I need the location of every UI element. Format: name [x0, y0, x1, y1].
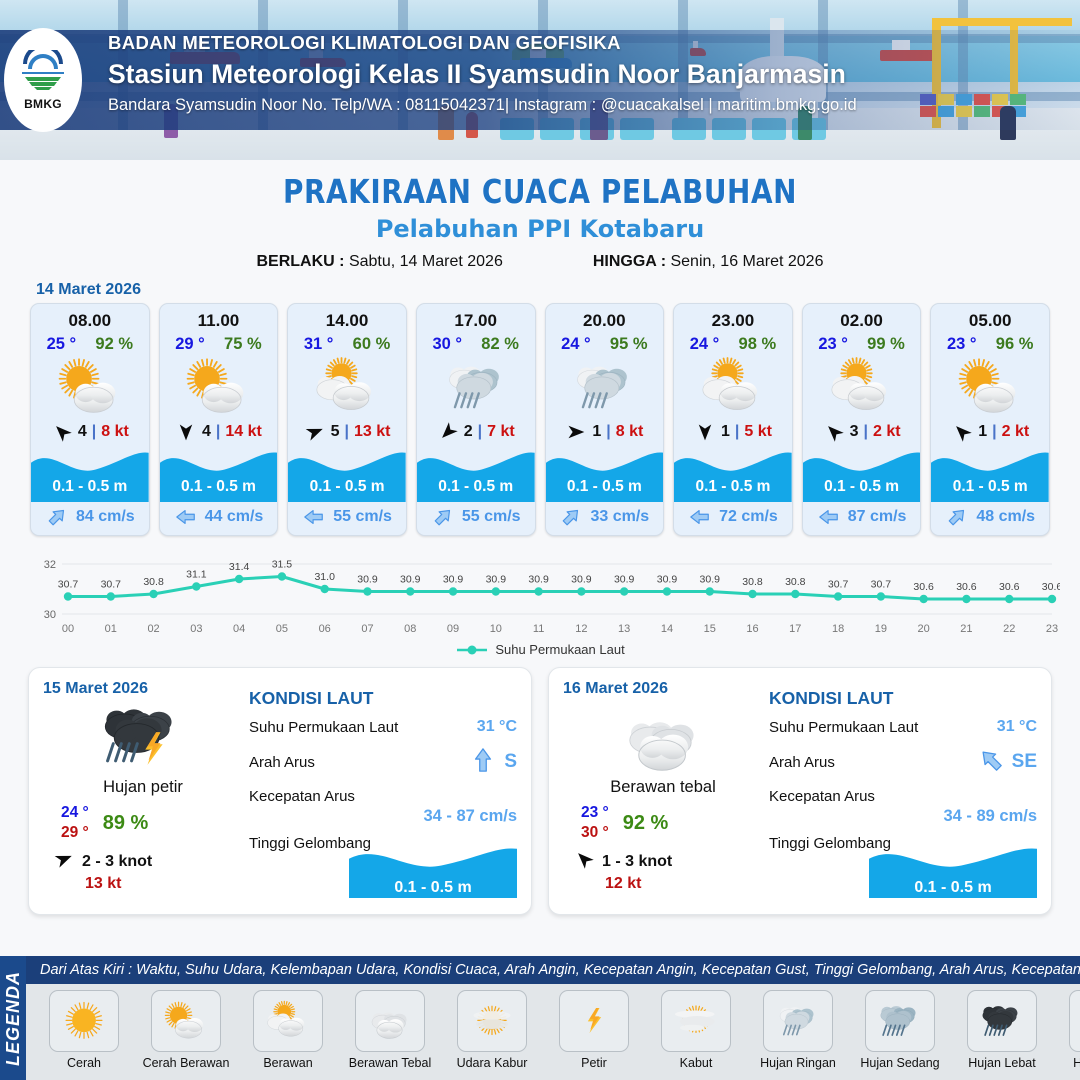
svg-text:05: 05: [276, 623, 288, 635]
sst-chart-canvas: 303230.730.730.831.131.431.531.030.930.9…: [20, 550, 1060, 640]
card-wave: 0.1 - 0.5 m: [160, 446, 278, 502]
wind-separator: |: [863, 423, 867, 441]
wind-separator: |: [992, 423, 996, 441]
svg-text:19: 19: [875, 623, 887, 635]
wind-gust: 5 kt: [744, 423, 772, 441]
current-speed: 84 cm/s: [76, 508, 135, 526]
forecast-card[interactable]: 14.00 31 ° 60 % 5 | 13 kt: [287, 303, 407, 536]
day-panel-sea-conditions: KONDISI LAUT Suhu Permukaan Laut 31 °C A…: [243, 680, 517, 902]
svg-text:31.0: 31.0: [314, 571, 335, 583]
day-wind: 1 - 3 knot: [563, 849, 763, 874]
day-humidity: 89 %: [103, 812, 149, 835]
legend-item-label: Berawan Tebal: [342, 1056, 438, 1070]
card-humidity: 96 %: [996, 335, 1034, 354]
legend-item: Cerah: [36, 990, 132, 1070]
svg-text:30.7: 30.7: [828, 579, 849, 591]
svg-text:15: 15: [704, 623, 716, 635]
sea-conditions-title: KONDISI LAUT: [249, 688, 517, 709]
svg-text:30.7: 30.7: [101, 579, 122, 591]
card-current: 84 cm/s: [31, 502, 149, 535]
svg-text:07: 07: [361, 623, 373, 635]
current-speed: 55 cm/s: [462, 508, 521, 526]
svg-text:30.9: 30.9: [700, 574, 721, 586]
wave-height: 0.1 - 0.5 m: [546, 478, 664, 496]
svg-text:30.6: 30.6: [1042, 581, 1060, 593]
sst-chart: 303230.730.730.831.131.431.531.030.930.9…: [20, 550, 1060, 640]
forecast-card-row: 08.00 25 ° 92 % 4 | 8 kt: [0, 303, 1080, 536]
wave-height: 0.1 - 0.5 m: [31, 478, 149, 496]
svg-text:30.7: 30.7: [58, 579, 79, 591]
legend-hujan-petir-icon: [1069, 990, 1080, 1052]
legend-hujan-sedang-icon: [865, 990, 935, 1052]
legend-kabut-icon: [661, 990, 731, 1052]
wind-separator: |: [735, 423, 739, 441]
legend-item-label: Hujan Lebat: [954, 1056, 1050, 1070]
legend-item-label: Kabut: [648, 1056, 744, 1070]
svg-text:23: 23: [1046, 623, 1058, 635]
wind-speed-knot: 3: [850, 423, 859, 441]
day-condition: Hujan petir: [43, 778, 243, 797]
card-current: 87 cm/s: [803, 502, 921, 535]
card-current: 72 cm/s: [674, 502, 792, 535]
card-wind: 2 | 7 kt: [417, 420, 535, 446]
wave-height: 0.1 - 0.5 m: [674, 478, 792, 496]
current-direction-arrow-icon: [431, 506, 455, 528]
wind-speed-knot: 1: [721, 423, 730, 441]
svg-text:03: 03: [190, 623, 202, 635]
day-wind-range: 2 - 3 knot: [82, 853, 152, 871]
svg-text:30.8: 30.8: [785, 576, 806, 588]
wave-height-value: 0.1 - 0.5 m: [349, 879, 517, 897]
daily-forecast-panels: 15 Maret 2026 Hujan petir 24 °: [0, 657, 1080, 915]
svg-text:14: 14: [661, 623, 673, 635]
svg-text:06: 06: [319, 623, 331, 635]
legend-berawan-tebal-icon: [355, 990, 425, 1052]
card-humidity: 99 %: [867, 335, 905, 354]
card-wind: 1 | 2 kt: [931, 420, 1049, 446]
weather-hujan-ringan-icon: [417, 354, 535, 420]
card-temperature: 23 °: [818, 335, 848, 354]
card-wave: 0.1 - 0.5 m: [931, 446, 1049, 502]
legend-cerah-icon: [49, 990, 119, 1052]
day-wind-gust: 13 kt: [85, 875, 243, 893]
wind-direction-arrow-icon: [565, 422, 587, 442]
svg-text:30.7: 30.7: [871, 579, 892, 591]
weather-cerah-berawan-icon: [31, 354, 149, 420]
svg-text:30.9: 30.9: [657, 574, 678, 586]
valid-from-value: Sabtu, 14 Maret 2026: [349, 253, 503, 270]
current-speed: 87 cm/s: [848, 508, 907, 526]
svg-text:30.9: 30.9: [571, 574, 592, 586]
page-header: BMKG BADAN METEOROLOGI KLIMATOLOGI DAN G…: [0, 0, 1080, 160]
wind-direction-arrow-icon: [53, 849, 75, 874]
current-speed-value: 34 - 89 cm/s: [769, 807, 1037, 826]
wave-height: 0.1 - 0.5 m: [931, 478, 1049, 496]
card-wave: 0.1 - 0.5 m: [674, 446, 792, 502]
forecast-card[interactable]: 02.00 23 ° 99 % 3 | 2 kt: [802, 303, 922, 536]
bmkg-logo: BMKG: [4, 28, 82, 132]
valid-to-value: Senin, 16 Maret 2026: [670, 253, 823, 270]
legend-item-label: Cerah Berawan: [138, 1056, 234, 1070]
card-wave: 0.1 - 0.5 m: [417, 446, 535, 502]
wind-gust: 8 kt: [101, 423, 129, 441]
sea-row-sst: Suhu Permukaan Laut 31 °C: [769, 718, 1037, 736]
legend-udara-kabur-icon: [457, 990, 527, 1052]
day-wind: 2 - 3 knot: [43, 849, 243, 874]
header-text-block: BADAN METEOROLOGI KLIMATOLOGI DAN GEOFIS…: [108, 30, 1058, 118]
current-direction-arrow-icon: [688, 506, 712, 528]
wave-height-block: 0.1 - 0.5 m: [869, 842, 1037, 904]
svg-text:30.9: 30.9: [528, 574, 549, 586]
current-direction-arrow-icon: [45, 506, 69, 528]
card-time: 23.00: [674, 304, 792, 331]
forecast-card[interactable]: 08.00 25 ° 92 % 4 | 8 kt: [30, 303, 150, 536]
legend-footer: LEGENDA Dari Atas Kiri : Waktu, Suhu Uda…: [0, 956, 1080, 1080]
wind-direction-arrow-icon: [573, 849, 595, 874]
sea-row-current-speed: Kecepatan Arus 34 - 89 cm/s: [769, 788, 1037, 826]
wind-gust: 13 kt: [354, 423, 390, 441]
sea-row-current-speed: Kecepatan Arus 34 - 87 cm/s: [249, 788, 517, 826]
wind-speed-knot: 1: [592, 423, 601, 441]
card-humidity: 98 %: [739, 335, 777, 354]
card-time: 05.00: [931, 304, 1049, 331]
current-speed-value: 34 - 87 cm/s: [249, 807, 517, 826]
legend-item: Berawan: [240, 990, 336, 1070]
card-temperature: 24 °: [690, 335, 720, 354]
title-section: PRAKIRAAN CUACA PELABUHAN Pelabuhan PPI …: [0, 160, 1080, 271]
svg-text:08: 08: [404, 623, 416, 635]
station-name: Stasiun Meteorologi Kelas II Syamsudin N…: [108, 56, 1058, 92]
current-speed: 55 cm/s: [333, 508, 392, 526]
sea-conditions-title: KONDISI LAUT: [769, 688, 1037, 709]
weather-hujan-petir-icon: [43, 700, 243, 776]
current-direction-value: SE: [978, 745, 1037, 779]
crane-boom-icon: [932, 18, 1072, 26]
chart-legend-marker: [455, 644, 489, 656]
card-temp-humidity: 25 ° 92 %: [31, 331, 149, 354]
day-temperatures: 24 ° 29 ° 89 %: [43, 803, 243, 843]
page-subtitle: Pelabuhan PPI Kotabaru: [0, 215, 1080, 243]
wind-speed-knot: 4: [78, 423, 87, 441]
wave-height-block: 0.1 - 0.5 m: [349, 842, 517, 904]
card-wave: 0.1 - 0.5 m: [31, 446, 149, 502]
card-current: 33 cm/s: [546, 502, 664, 535]
svg-text:12: 12: [575, 623, 587, 635]
forecast-date-label: 14 Maret 2026: [36, 281, 1080, 299]
legend-item: Hujan Ringan: [750, 990, 846, 1070]
svg-text:30: 30: [44, 609, 56, 621]
wind-gust: 8 kt: [616, 423, 644, 441]
forecast-card[interactable]: 05.00 23 ° 96 % 1 | 2 kt: [930, 303, 1050, 536]
legend-item: Kabut: [648, 990, 744, 1070]
wind-gust: 2 kt: [1002, 423, 1030, 441]
legend-side-label: LEGENDA: [3, 970, 24, 1065]
sea-row-value: 31 °C: [477, 718, 517, 736]
validity-range: BERLAKU : Sabtu, 14 Maret 2026 HINGGA : …: [0, 253, 1080, 271]
svg-text:13: 13: [618, 623, 630, 635]
card-humidity: 92 %: [95, 335, 133, 354]
svg-text:20: 20: [918, 623, 930, 635]
wind-gust: 2 kt: [873, 423, 901, 441]
contact-line: Bandara Syamsudin Noor No. Telp/WA : 081…: [108, 92, 1058, 118]
card-wind: 5 | 13 kt: [288, 420, 406, 446]
legend-item-label: Udara Kabur: [444, 1056, 540, 1070]
svg-text:18: 18: [832, 623, 844, 635]
card-temp-humidity: 24 ° 95 %: [546, 331, 664, 354]
weather-berawan-tebal-icon: [563, 700, 763, 776]
wind-separator: |: [345, 423, 349, 441]
day-temperatures: 23 ° 30 ° 92 %: [563, 803, 763, 843]
svg-text:04: 04: [233, 623, 245, 635]
legend-item-label: Hujan Ringan: [750, 1056, 846, 1070]
svg-text:01: 01: [105, 623, 117, 635]
legend-item-label: Petir: [546, 1056, 642, 1070]
agency-name: BADAN METEOROLOGI KLIMATOLOGI DAN GEOFIS…: [108, 30, 1058, 56]
weather-berawan-icon: [803, 354, 921, 420]
current-direction-arrow-icon: [945, 506, 969, 528]
wave-height-value: 0.1 - 0.5 m: [869, 879, 1037, 897]
valid-to-label: HINGGA :: [593, 253, 666, 270]
wind-direction-arrow-icon: [694, 422, 716, 442]
legend-item: Cerah Berawan: [138, 990, 234, 1070]
card-temperature: 31 °: [304, 335, 334, 354]
card-humidity: 75 %: [224, 335, 262, 354]
wind-separator: |: [216, 423, 220, 441]
card-temperature: 25 °: [47, 335, 77, 354]
day-temp-min: 23 °: [581, 803, 609, 823]
current-direction-label: S: [504, 751, 517, 773]
card-wind: 4 | 8 kt: [31, 420, 149, 446]
svg-text:30.6: 30.6: [956, 581, 977, 593]
wave-height: 0.1 - 0.5 m: [160, 478, 278, 496]
card-current: 48 cm/s: [931, 502, 1049, 535]
sea-row-label: Arah Arus: [769, 754, 978, 771]
valid-from-label: BERLAKU :: [257, 253, 345, 270]
card-wind: 1 | 5 kt: [674, 420, 792, 446]
wind-direction-arrow-icon: [51, 422, 73, 442]
wind-speed-knot: 2: [464, 423, 473, 441]
wind-direction-arrow-icon: [951, 422, 973, 442]
svg-text:11: 11: [533, 623, 544, 635]
current-direction-value: S: [470, 745, 517, 779]
card-temp-humidity: 23 ° 99 %: [803, 331, 921, 354]
card-time: 02.00: [803, 304, 921, 331]
svg-text:31.1: 31.1: [186, 569, 207, 581]
card-temp-humidity: 24 ° 98 %: [674, 331, 792, 354]
day-date: 16 Maret 2026: [563, 680, 763, 698]
card-wind: 3 | 2 kt: [803, 420, 921, 446]
wind-direction-arrow-icon: [437, 422, 459, 442]
day-forecast-panel[interactable]: 16 Maret 2026 Berawan tebal 23 ° 3: [548, 667, 1052, 915]
svg-text:30.8: 30.8: [143, 576, 164, 588]
wind-speed-knot: 5: [331, 423, 340, 441]
legend-item: Petir: [546, 990, 642, 1070]
day-panel-left: 16 Maret 2026 Berawan tebal 23 ° 3: [563, 680, 763, 902]
legend-item-label: Hujan Petir: [1056, 1056, 1080, 1070]
day-wind-range: 1 - 3 knot: [602, 853, 672, 871]
forecast-card[interactable]: 23.00 24 ° 98 % 1 | 5 kt: [673, 303, 793, 536]
svg-text:30.9: 30.9: [614, 574, 635, 586]
wind-separator: |: [606, 423, 610, 441]
svg-text:21: 21: [960, 623, 972, 635]
card-time: 11.00: [160, 304, 278, 331]
wind-speed-knot: 4: [202, 423, 211, 441]
day-temp-min: 24 °: [61, 803, 89, 823]
day-temp-max: 30 °: [581, 823, 609, 843]
weather-hujan-ringan-icon: [546, 354, 664, 420]
wind-direction-arrow-icon: [304, 422, 326, 442]
legend-caption: Dari Atas Kiri : Waktu, Suhu Udara, Kele…: [26, 956, 1080, 984]
day-forecast-panel[interactable]: 15 Maret 2026 Hujan petir 24 °: [28, 667, 532, 915]
valid-to: HINGGA : Senin, 16 Maret 2026: [593, 253, 824, 271]
day-panel-left: 15 Maret 2026 Hujan petir 24 °: [43, 680, 243, 902]
sea-row-current-direction: Arah Arus S: [249, 745, 517, 779]
card-current: 55 cm/s: [288, 502, 406, 535]
legend-petir-icon: [559, 990, 629, 1052]
current-direction-arrow-icon: [817, 506, 841, 528]
sea-row-label: Arah Arus: [249, 754, 470, 771]
current-direction-arrow-icon: [302, 506, 326, 528]
svg-text:32: 32: [44, 559, 56, 571]
card-humidity: 60 %: [353, 335, 391, 354]
wind-speed-knot: 1: [978, 423, 987, 441]
card-humidity: 82 %: [481, 335, 519, 354]
legend-cerah-berawan-icon: [151, 990, 221, 1052]
sea-row-current-direction: Arah Arus SE: [769, 745, 1037, 779]
forecast-card[interactable]: 17.00 30 ° 82 % 2: [416, 303, 536, 536]
sea-row-label: Kecepatan Arus: [249, 788, 517, 805]
card-temp-humidity: 31 ° 60 %: [288, 331, 406, 354]
wind-separator: |: [478, 423, 482, 441]
svg-text:30.9: 30.9: [400, 574, 421, 586]
svg-text:30.9: 30.9: [486, 574, 507, 586]
card-temperature: 23 °: [947, 335, 977, 354]
legend-item-label: Hujan Sedang: [852, 1056, 948, 1070]
current-direction-arrow-icon: [559, 506, 583, 528]
day-date: 15 Maret 2026: [43, 680, 243, 698]
legend-item: Hujan Petir: [1056, 990, 1080, 1070]
day-humidity: 92 %: [623, 812, 669, 835]
legend-item: Hujan Sedang: [852, 990, 948, 1070]
wave-height: 0.1 - 0.5 m: [417, 478, 535, 496]
card-temp-humidity: 29 ° 75 %: [160, 331, 278, 354]
legend-main: Dari Atas Kiri : Waktu, Suhu Udara, Kele…: [26, 956, 1080, 1080]
wave-height: 0.1 - 0.5 m: [288, 478, 406, 496]
bmkg-logo-text: BMKG: [24, 97, 62, 111]
current-speed: 44 cm/s: [205, 508, 264, 526]
card-wave: 0.1 - 0.5 m: [288, 446, 406, 502]
legend-berawan-icon: [253, 990, 323, 1052]
svg-text:30.9: 30.9: [443, 574, 464, 586]
svg-text:00: 00: [62, 623, 74, 635]
page-title: PRAKIRAAN CUACA PELABUHAN: [32, 172, 1047, 211]
svg-text:30.6: 30.6: [999, 581, 1020, 593]
legend-item-label: Cerah: [36, 1056, 132, 1070]
legend-hujan-ringan-icon: [763, 990, 833, 1052]
current-speed: 72 cm/s: [719, 508, 778, 526]
wind-separator: |: [92, 423, 96, 441]
current-direction-arrow-icon: [978, 745, 1004, 779]
card-wave: 0.1 - 0.5 m: [803, 446, 921, 502]
legend-item: Berawan Tebal: [342, 990, 438, 1070]
current-speed: 33 cm/s: [590, 508, 649, 526]
svg-text:16: 16: [746, 623, 758, 635]
legend-item: Udara Kabur: [444, 990, 540, 1070]
legend-item-label: Berawan: [240, 1056, 336, 1070]
card-temperature: 29 °: [175, 335, 205, 354]
card-temperature: 24 °: [561, 335, 591, 354]
weather-berawan-icon: [674, 354, 792, 420]
card-time: 20.00: [546, 304, 664, 331]
card-temp-humidity: 23 ° 96 %: [931, 331, 1049, 354]
card-humidity: 95 %: [610, 335, 648, 354]
svg-text:17: 17: [789, 623, 801, 635]
legend-item-row: Cerah Cerah Berawan Berawan: [26, 984, 1080, 1080]
forecast-card[interactable]: 20.00 24 ° 95 % 1: [545, 303, 665, 536]
svg-text:30.6: 30.6: [913, 581, 934, 593]
valid-from: BERLAKU : Sabtu, 14 Maret 2026: [257, 253, 503, 271]
wave-height: 0.1 - 0.5 m: [803, 478, 921, 496]
day-wind-gust: 12 kt: [605, 875, 763, 893]
card-temperature: 30 °: [432, 335, 462, 354]
card-current: 44 cm/s: [160, 502, 278, 535]
day-panel-sea-conditions: KONDISI LAUT Suhu Permukaan Laut 31 °C A…: [763, 680, 1037, 902]
card-temp-humidity: 30 ° 82 %: [417, 331, 535, 354]
card-time: 14.00: [288, 304, 406, 331]
day-temp-max: 29 °: [61, 823, 89, 843]
sea-row-label: Suhu Permukaan Laut: [249, 719, 477, 736]
wind-gust: 14 kt: [225, 423, 261, 441]
svg-text:31.4: 31.4: [229, 561, 250, 573]
sea-row-sst: Suhu Permukaan Laut 31 °C: [249, 718, 517, 736]
current-direction-arrow-icon: [470, 745, 496, 779]
current-direction-arrow-icon: [174, 506, 198, 528]
legend-side-banner: LEGENDA: [0, 956, 26, 1080]
weather-berawan-icon: [288, 354, 406, 420]
svg-text:10: 10: [490, 623, 502, 635]
day-condition: Berawan tebal: [563, 778, 763, 797]
chart-legend: Suhu Permukaan Laut: [0, 642, 1080, 657]
wind-direction-arrow-icon: [175, 422, 197, 442]
sea-row-value: 31 °C: [997, 718, 1037, 736]
card-current: 55 cm/s: [417, 502, 535, 535]
svg-text:30.9: 30.9: [357, 574, 378, 586]
legend-item: Hujan Lebat: [954, 990, 1050, 1070]
svg-text:31.5: 31.5: [272, 559, 293, 571]
card-time: 08.00: [31, 304, 149, 331]
forecast-card[interactable]: 11.00 29 ° 75 % 4 | 14 kt: [159, 303, 279, 536]
weather-cerah-berawan-icon: [931, 354, 1049, 420]
card-wind: 1 | 8 kt: [546, 420, 664, 446]
current-speed: 48 cm/s: [976, 508, 1035, 526]
chart-legend-label: Suhu Permukaan Laut: [495, 642, 624, 657]
wind-gust: 7 kt: [487, 423, 515, 441]
bmkg-logo-mark: [17, 50, 69, 96]
sea-row-label: Kecepatan Arus: [769, 788, 1037, 805]
svg-text:22: 22: [1003, 623, 1015, 635]
card-wave: 0.1 - 0.5 m: [546, 446, 664, 502]
card-wind: 4 | 14 kt: [160, 420, 278, 446]
wind-direction-arrow-icon: [823, 422, 845, 442]
svg-text:09: 09: [447, 623, 459, 635]
weather-cerah-berawan-icon: [160, 354, 278, 420]
svg-text:02: 02: [147, 623, 159, 635]
card-time: 17.00: [417, 304, 535, 331]
current-direction-label: SE: [1012, 751, 1037, 773]
legend-hujan-lebat-icon: [967, 990, 1037, 1052]
svg-text:30.8: 30.8: [742, 576, 763, 588]
sea-row-label: Suhu Permukaan Laut: [769, 719, 997, 736]
